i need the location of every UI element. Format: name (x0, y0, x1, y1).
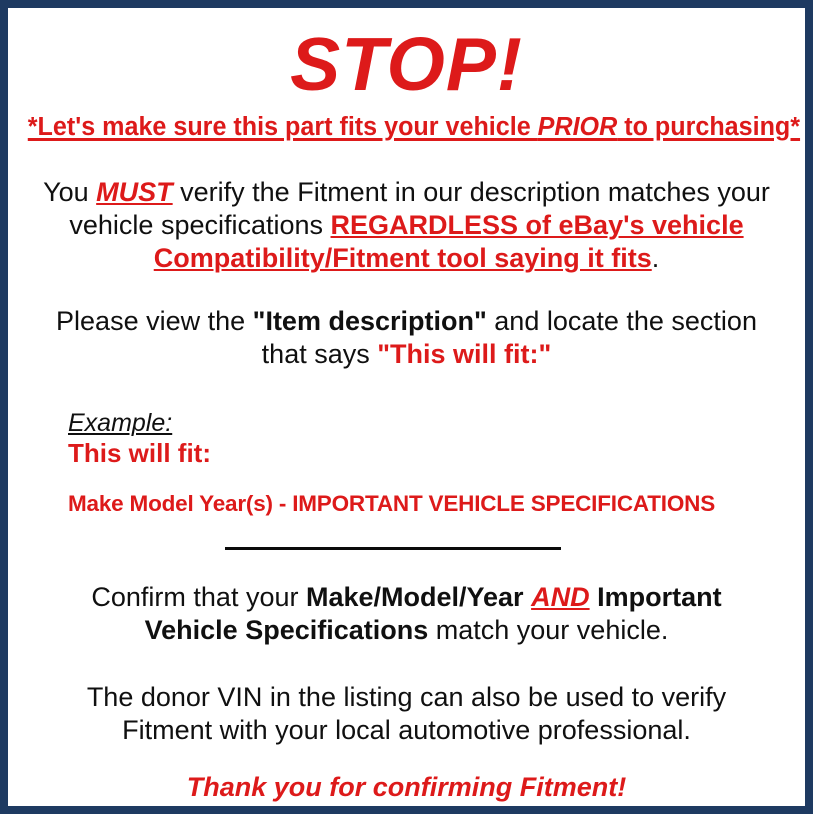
vin-paragraph: The donor VIN in the listing can also be… (22, 647, 791, 747)
must-paragraph-lead: You (43, 177, 96, 207)
example-spec-line: Make Model Year(s) - IMPORTANT VEHICLE S… (68, 468, 791, 517)
must-paragraph-period: . (652, 243, 660, 273)
item-description-paragraph: Please view the "Item description" and l… (22, 275, 791, 371)
tagline: *Let's make sure this part fits your veh… (28, 104, 785, 142)
this-will-fit-label: "This will fit:" (377, 339, 551, 369)
example-block: Example: This will fit: Make Model Year(… (22, 371, 791, 517)
item-desc-lead: Please view the (56, 306, 253, 336)
item-description-label: "Item description" (253, 306, 487, 336)
tagline-prior-emphasis: PRIOR (538, 113, 618, 141)
tagline-part-1: *Let's make sure this part fits your veh… (28, 113, 538, 141)
must-verify-paragraph: You MUST verify the Fitment in our descr… (22, 142, 791, 275)
divider (22, 517, 791, 555)
example-fit-heading: This will fit: (68, 438, 791, 468)
page-title: STOP! (22, 8, 791, 104)
example-label-row: Example: (68, 409, 791, 438)
example-label: Example: (68, 409, 172, 438)
confirm-paragraph: Confirm that your Make/Model/Year AND Im… (22, 555, 791, 647)
confirm-space-1 (524, 582, 532, 612)
confirm-tail: match your vehicle. (428, 615, 668, 645)
divider-rule (225, 547, 561, 550)
tagline-part-2: to purchasing* (617, 113, 800, 141)
and-emphasis: AND (531, 582, 590, 612)
thank-you-line: Thank you for confirming Fitment! (22, 747, 791, 803)
confirm-lead: Confirm that your (91, 582, 306, 612)
notice-content-area: STOP! *Let's make sure this part fits yo… (8, 8, 805, 806)
must-emphasis: MUST (96, 177, 173, 207)
fitment-notice-card: STOP! *Let's make sure this part fits yo… (0, 0, 813, 814)
confirm-space-2 (590, 582, 598, 612)
make-model-year-emphasis: Make/Model/Year (306, 582, 524, 612)
